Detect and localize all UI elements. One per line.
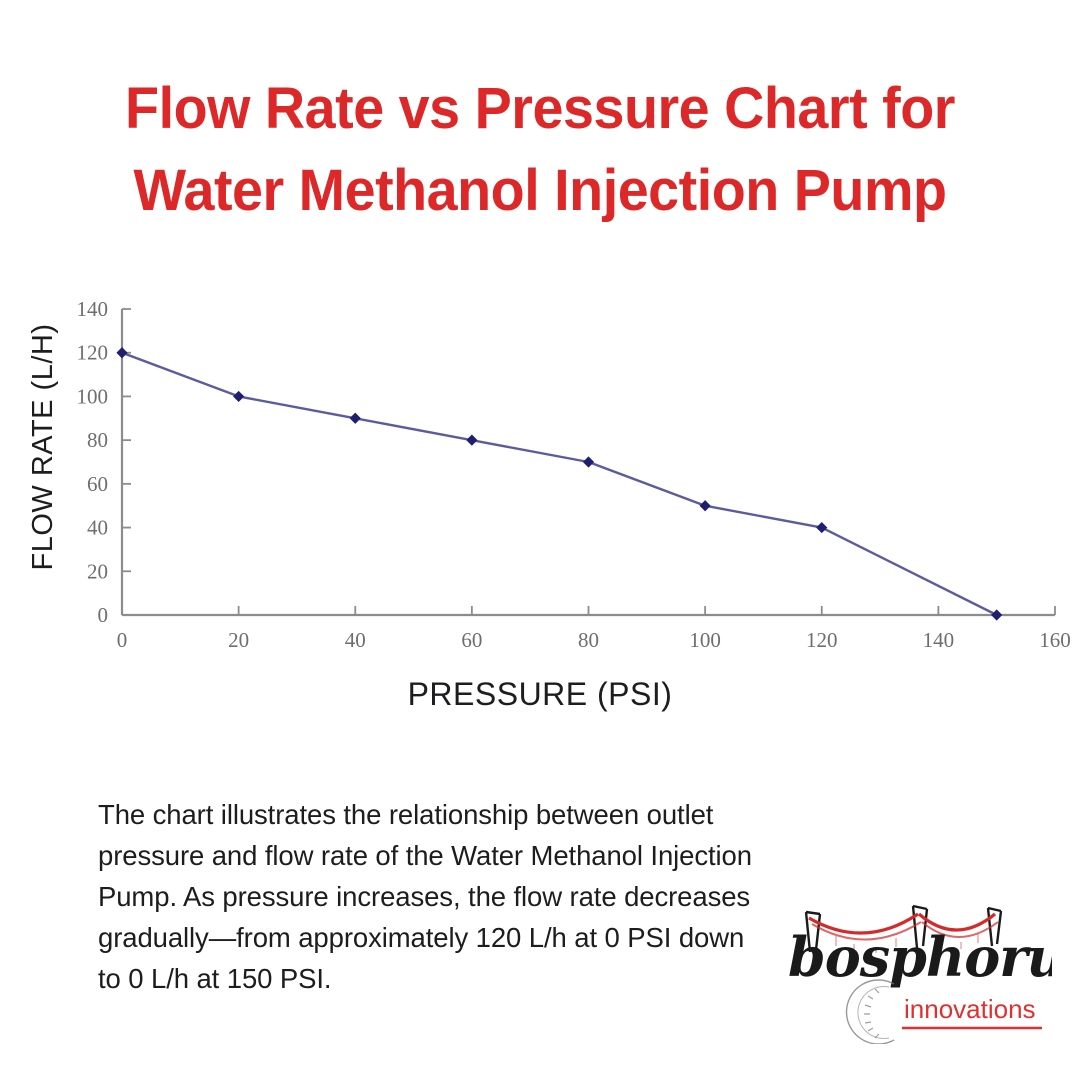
flow-rate-series-line (122, 353, 997, 615)
x-tick-label: 0 (117, 628, 128, 652)
data-point-marker (350, 413, 361, 424)
logo-canvas: bosphorus innovations (776, 892, 1052, 1044)
x-tick-label: 20 (228, 628, 249, 652)
x-axis-tick-labels: 020406080100120140160 (117, 628, 1071, 652)
y-axis-ticks (122, 309, 131, 571)
chart-description-text: The chart illustrates the relationship b… (98, 794, 758, 999)
x-tick-label: 100 (689, 628, 721, 652)
x-tick-label: 160 (1039, 628, 1071, 652)
data-point-marker (466, 435, 477, 446)
page-title: Flow Rate vs Pressure Chart for Water Me… (60, 68, 1020, 232)
x-tick-label: 40 (345, 628, 366, 652)
data-point-marker (583, 456, 594, 467)
flow-rate-series-markers (116, 347, 1002, 620)
y-tick-label: 100 (77, 384, 109, 408)
data-point-marker (816, 522, 827, 533)
y-tick-label: 60 (87, 472, 108, 496)
y-axis-label: FLOW RATE (L/H) (27, 323, 59, 570)
y-tick-label: 20 (87, 559, 108, 583)
x-axis-label: PRESSURE (PSI) (408, 676, 673, 712)
y-axis-tick-labels: 020406080100120140 (77, 297, 109, 627)
y-tick-label: 0 (98, 603, 109, 627)
page-title-line-1: Flow Rate vs Pressure Chart for (79, 68, 1001, 150)
flow-rate-vs-pressure-chart: FLOW RATE (L/H) 020406080100120140 02040… (0, 280, 1080, 740)
x-tick-label: 60 (461, 628, 482, 652)
logo-wordmark: bosphorus (788, 925, 1052, 989)
chart-description: The chart illustrates the relationship b… (98, 794, 758, 999)
y-tick-label: 120 (77, 341, 109, 365)
y-tick-label: 80 (87, 428, 108, 452)
x-tick-label: 120 (806, 628, 838, 652)
y-tick-label: 140 (77, 297, 109, 321)
data-point-marker (116, 347, 127, 358)
x-tick-label: 80 (578, 628, 599, 652)
x-axis-ticks (239, 606, 1055, 615)
page-title-line-2: Water Methanol Injection Pump (79, 150, 1001, 232)
data-point-marker (991, 609, 1002, 620)
data-point-marker (233, 391, 244, 402)
x-tick-label: 140 (923, 628, 955, 652)
y-tick-label: 40 (87, 516, 108, 540)
data-point-marker (700, 500, 711, 511)
chart-canvas: FLOW RATE (L/H) 020406080100120140 02040… (0, 280, 1080, 740)
bosphorus-innovations-logo: bosphorus innovations (776, 892, 1052, 1044)
logo-tagline: innovations (904, 994, 1036, 1024)
gauge-arc-icon (847, 980, 894, 1044)
